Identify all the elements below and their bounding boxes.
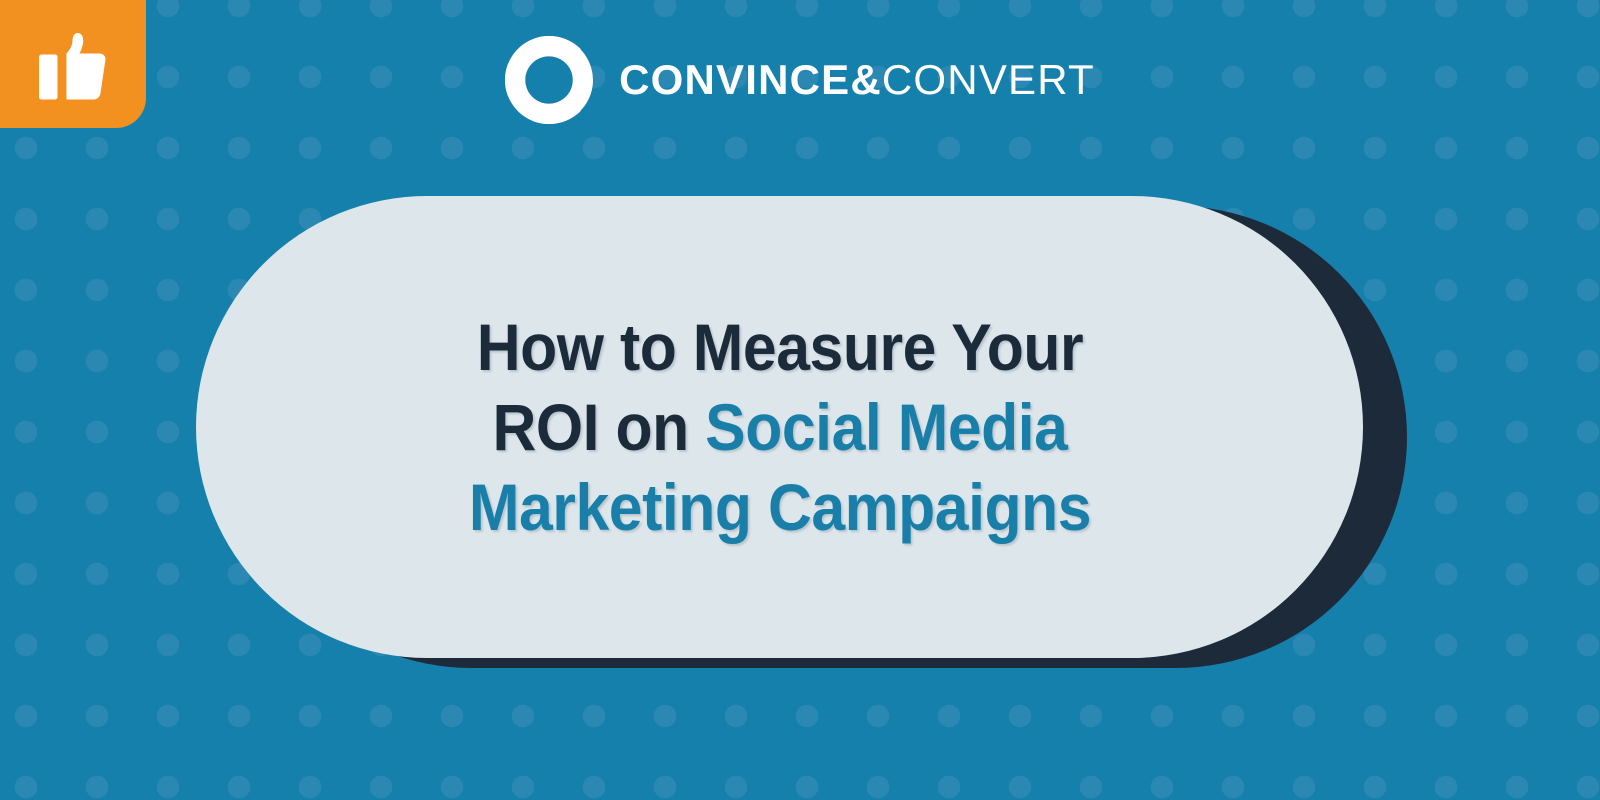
title-line-2-accent: Social Media <box>705 390 1067 464</box>
logo-word-bold: CONVINCE& <box>619 59 882 101</box>
site-logo[interactable]: CONVINCE&CONVERT <box>0 33 1600 127</box>
thumbs-up-badge <box>0 0 146 128</box>
logo-word-light: CONVERT <box>882 59 1095 101</box>
logo-wordmark: CONVINCE&CONVERT <box>619 59 1095 101</box>
title-line-3: Marketing Campaigns <box>458 467 1102 547</box>
title-card-wrapper: How to Measure Your ROI on Social Media … <box>196 196 1363 658</box>
title-card: How to Measure Your ROI on Social Media … <box>196 196 1363 658</box>
page-title: How to Measure Your ROI on Social Media … <box>458 307 1102 547</box>
title-line-2-dark: ROI on <box>492 390 705 464</box>
title-line-1: How to Measure Your <box>458 307 1102 387</box>
convince-and-convert-c-mark <box>505 36 593 124</box>
blog-featured-image: CONVINCE&CONVERT How to Measure Your ROI… <box>0 0 1600 800</box>
title-line-2: ROI on Social Media <box>458 387 1102 467</box>
thumbs-up-icon <box>33 27 113 101</box>
